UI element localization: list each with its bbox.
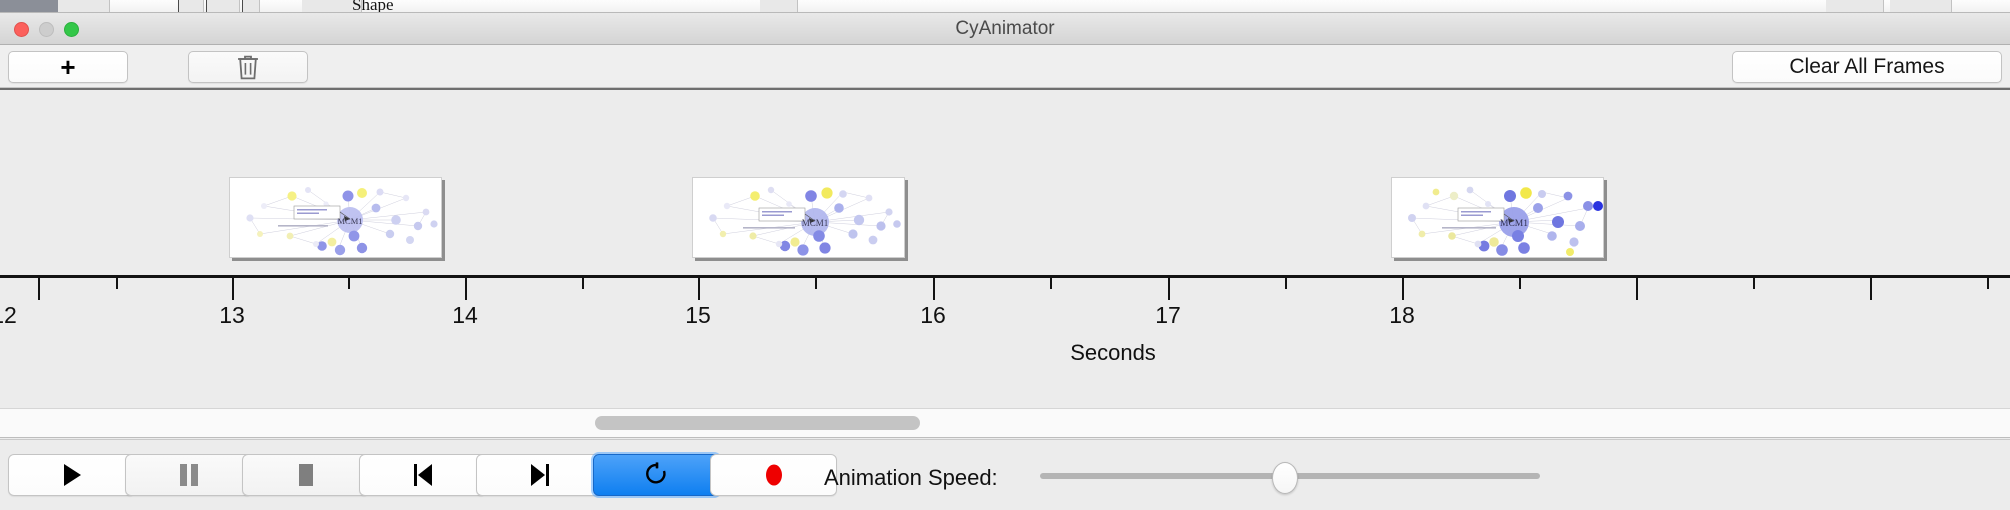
timeline-frame[interactable]: MCM1	[692, 177, 905, 258]
ruler-tick-minor	[815, 278, 817, 289]
ruler-tick-major	[38, 278, 40, 300]
ruler-tick-minor	[1050, 278, 1052, 289]
ruler-tick-major	[1636, 278, 1638, 300]
record-button[interactable]	[710, 454, 837, 496]
ruler-tick-minor	[116, 278, 118, 289]
ruler-tick-minor	[1285, 278, 1287, 289]
background-window-strip: Shape	[0, 0, 2010, 13]
ruler-tick-minor	[1519, 278, 1521, 289]
background-window-label: Shape	[352, 0, 394, 13]
stop-button[interactable]	[242, 454, 369, 496]
window-titlebar: CyAnimator	[0, 13, 2010, 45]
play-button[interactable]	[8, 454, 135, 496]
stop-icon	[296, 463, 316, 487]
ruler-tick-minor	[1753, 278, 1755, 289]
timeline-frame[interactable]: MCM1	[229, 177, 442, 258]
ruler-label: 17	[1155, 302, 1181, 329]
pause-icon	[178, 463, 200, 487]
background-window-segment	[206, 0, 240, 13]
record-icon	[763, 462, 785, 488]
ruler-tick-major	[1870, 278, 1872, 300]
network-graph-thumbnail: MCM1	[230, 178, 442, 258]
background-window-segment	[1826, 0, 1884, 13]
trash-icon	[236, 54, 260, 81]
svg-text:MCM1: MCM1	[1500, 219, 1528, 229]
svg-text:MCM1: MCM1	[802, 218, 829, 228]
background-window-segment	[58, 0, 110, 13]
ruler-tick-major	[465, 278, 467, 300]
ruler-tick-major	[1402, 278, 1404, 300]
plus-icon: +	[60, 54, 75, 80]
axis-title: Seconds	[0, 340, 2010, 366]
ruler-label: 18	[1389, 302, 1415, 329]
delete-frame-button[interactable]	[188, 51, 308, 83]
loop-icon	[645, 462, 669, 488]
skip-to-start-icon	[412, 463, 434, 487]
background-window-divider	[242, 0, 243, 13]
timeline-ruler[interactable]: 12 13 14 15 16 17 18	[0, 275, 2010, 335]
ruler-label: 16	[920, 302, 946, 329]
scrollbar-thumb[interactable]	[595, 416, 920, 430]
ruler-tick-major	[933, 278, 935, 300]
timeline-hscrollbar[interactable]	[0, 408, 2010, 438]
ruler-label: 13	[219, 302, 245, 329]
frames-track[interactable]: MCM1	[0, 90, 2010, 275]
animation-speed-slider-thumb[interactable]	[1272, 462, 1298, 494]
ruler-label: 12	[0, 302, 17, 329]
ruler-tick-minor	[1987, 278, 1989, 289]
background-window-segment	[242, 0, 260, 13]
ruler-tick-minor	[348, 278, 350, 289]
ruler-tick-minor	[582, 278, 584, 289]
background-window-segment	[760, 0, 798, 13]
background-window-segment	[1890, 0, 1952, 13]
add-frame-button[interactable]: +	[8, 51, 128, 83]
ruler-tick-major	[1168, 278, 1170, 300]
network-graph-thumbnail: MCM1	[693, 178, 905, 258]
window-title: CyAnimator	[0, 13, 2010, 45]
clear-all-frames-button[interactable]: Clear All Frames	[1732, 51, 2002, 83]
cyanimator-window: Shape CyAnimator + Clear All Frames	[0, 0, 2010, 510]
loop-button[interactable]	[593, 454, 720, 496]
background-window-divider	[206, 0, 207, 13]
skip-to-start-button[interactable]	[359, 454, 486, 496]
pause-button[interactable]	[125, 454, 252, 496]
animation-speed-label: Animation Speed:	[824, 465, 998, 491]
background-window-divider	[178, 0, 179, 13]
skip-to-end-button[interactable]	[476, 454, 603, 496]
timeline-frame[interactable]: MCM1	[1391, 177, 1604, 258]
play-icon	[62, 463, 82, 487]
clear-all-frames-label: Clear All Frames	[1789, 55, 1944, 79]
ruler-label: 14	[452, 302, 478, 329]
playback-toolbar: Animation Speed:	[0, 439, 2010, 510]
network-graph-thumbnail: MCM1	[1392, 178, 1604, 258]
axis-title-text: Seconds	[1070, 340, 1156, 365]
timeline-panel[interactable]: MCM1	[0, 88, 2010, 408]
svg-text:MCM1: MCM1	[337, 216, 362, 226]
background-window-segment	[178, 0, 204, 13]
toolbar: + Clear All Frames	[0, 45, 2010, 88]
ruler-label: 15	[685, 302, 711, 329]
ruler-tick-major	[698, 278, 700, 300]
skip-to-end-icon	[529, 463, 551, 487]
background-window-titlebar-fragment	[0, 0, 58, 13]
ruler-tick-major	[232, 278, 234, 300]
